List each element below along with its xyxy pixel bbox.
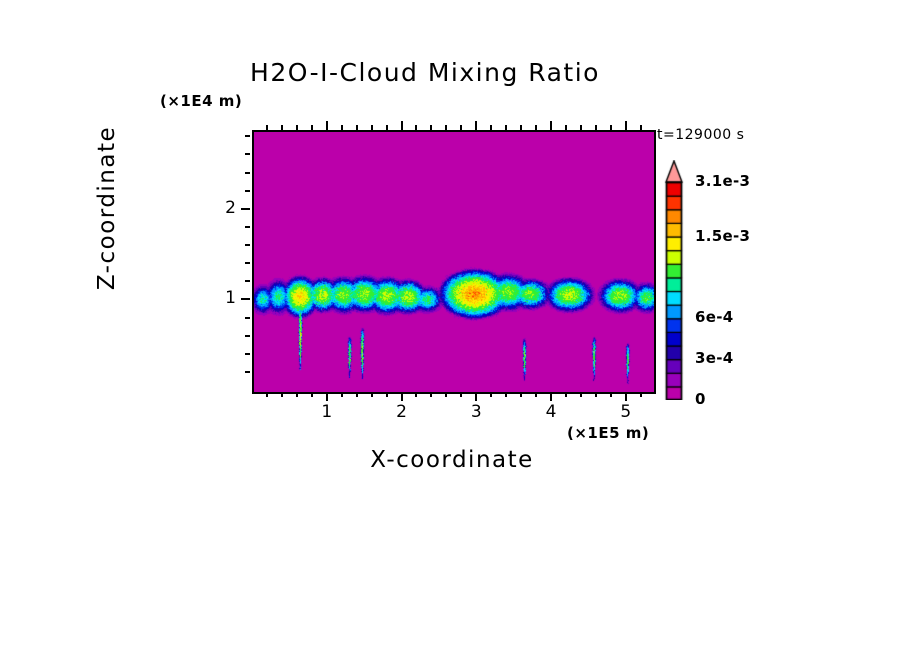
x-tick-minor: [281, 392, 283, 397]
x-tick-minor-top: [281, 125, 283, 130]
page-title-text: H2O-I-Cloud Mixing Ratio: [250, 58, 600, 87]
y-tick-major: [241, 208, 250, 210]
y-tick-minor: [245, 280, 250, 282]
x-axis-title: X-coordinate: [252, 447, 652, 473]
colorbar-canvas: [658, 160, 688, 400]
x-tick-minor-top: [595, 125, 597, 130]
x-tick-major: [550, 392, 552, 401]
x-tick-minor: [311, 392, 313, 397]
x-tick-label: 5: [606, 402, 646, 422]
x-tick-major-top: [475, 121, 477, 130]
x-axis-unit-label: (×1E5 m): [567, 424, 649, 442]
y-tick-minor: [245, 371, 250, 373]
x-tick-minor-top: [415, 125, 417, 130]
figure-root: H2O-I-Cloud Mixing Ratio (×1E4 m) (×1E5 …: [0, 0, 904, 654]
x-tick-major-top: [550, 121, 552, 130]
x-tick-minor: [430, 392, 432, 397]
y-tick-minor: [245, 317, 250, 319]
x-tick-minor: [640, 392, 642, 397]
x-tick-major-top: [326, 121, 328, 130]
colorbar: [658, 160, 688, 400]
y-tick-minor: [245, 172, 250, 174]
x-tick-minor: [460, 392, 462, 397]
page-title: H2O-I-Cloud Mixing Ratio: [0, 58, 904, 87]
x-tick-minor-top: [610, 125, 612, 130]
x-tick-minor: [535, 392, 537, 397]
heatmap-canvas: [254, 132, 654, 392]
x-tick-minor-top: [520, 125, 522, 130]
x-tick-minor-top: [430, 125, 432, 130]
x-tick-minor: [415, 392, 417, 397]
y-axis-title: Z-coordinate: [94, 98, 120, 318]
y-axis-unit-label: (×1E4 m): [160, 92, 242, 110]
x-tick-major: [625, 392, 627, 401]
colorbar-tick-label: 3e-4: [695, 349, 733, 367]
y-tick-minor: [245, 244, 250, 246]
x-tick-minor: [445, 392, 447, 397]
plot-area: [252, 130, 656, 394]
colorbar-tick-label: 6e-4: [695, 308, 733, 326]
x-tick-minor-top: [445, 125, 447, 130]
x-tick-minor: [520, 392, 522, 397]
x-tick-minor: [580, 392, 582, 397]
x-tick-minor: [490, 392, 492, 397]
y-tick-minor: [245, 153, 250, 155]
x-tick-major-top: [401, 121, 403, 130]
x-tick-minor-top: [371, 125, 373, 130]
timestamp-label: t=129000 s: [657, 127, 744, 143]
y-tick-minor: [245, 262, 250, 264]
colorbar-tick-label: 1.5e-3: [695, 227, 750, 245]
x-tick-minor: [386, 392, 388, 397]
y-tick-minor: [245, 226, 250, 228]
x-tick-minor: [595, 392, 597, 397]
y-tick-minor: [245, 190, 250, 192]
x-tick-minor-top: [490, 125, 492, 130]
x-tick-minor-top: [296, 125, 298, 130]
x-tick-minor-top: [311, 125, 313, 130]
x-tick-minor-top: [580, 125, 582, 130]
y-tick-minor: [245, 353, 250, 355]
x-tick-major-top: [625, 121, 627, 130]
x-tick-label: 3: [456, 402, 496, 422]
y-tick-label: 2: [196, 198, 236, 218]
x-tick-minor: [296, 392, 298, 397]
colorbar-tick-label: 3.1e-3: [695, 172, 750, 190]
x-tick-minor-top: [535, 125, 537, 130]
x-tick-minor: [610, 392, 612, 397]
x-tick-minor-top: [505, 125, 507, 130]
x-tick-minor: [505, 392, 507, 397]
y-tick-minor: [245, 135, 250, 137]
x-tick-minor-top: [460, 125, 462, 130]
x-tick-minor-top: [356, 125, 358, 130]
x-tick-minor-top: [266, 125, 268, 130]
x-tick-minor: [356, 392, 358, 397]
x-tick-major: [326, 392, 328, 401]
x-tick-label: 4: [531, 402, 571, 422]
y-tick-label: 1: [196, 288, 236, 308]
x-tick-label: 2: [382, 402, 422, 422]
x-tick-major: [475, 392, 477, 401]
colorbar-tick-label: 0: [695, 390, 706, 408]
x-tick-minor-top: [565, 125, 567, 130]
x-tick-minor: [266, 392, 268, 397]
x-tick-major: [401, 392, 403, 401]
x-tick-minor: [371, 392, 373, 397]
x-tick-label: 1: [307, 402, 347, 422]
x-tick-minor-top: [341, 125, 343, 130]
x-tick-minor: [565, 392, 567, 397]
x-tick-minor-top: [386, 125, 388, 130]
y-tick-major: [241, 298, 250, 300]
x-tick-minor: [341, 392, 343, 397]
x-tick-minor-top: [640, 125, 642, 130]
y-tick-minor: [245, 335, 250, 337]
